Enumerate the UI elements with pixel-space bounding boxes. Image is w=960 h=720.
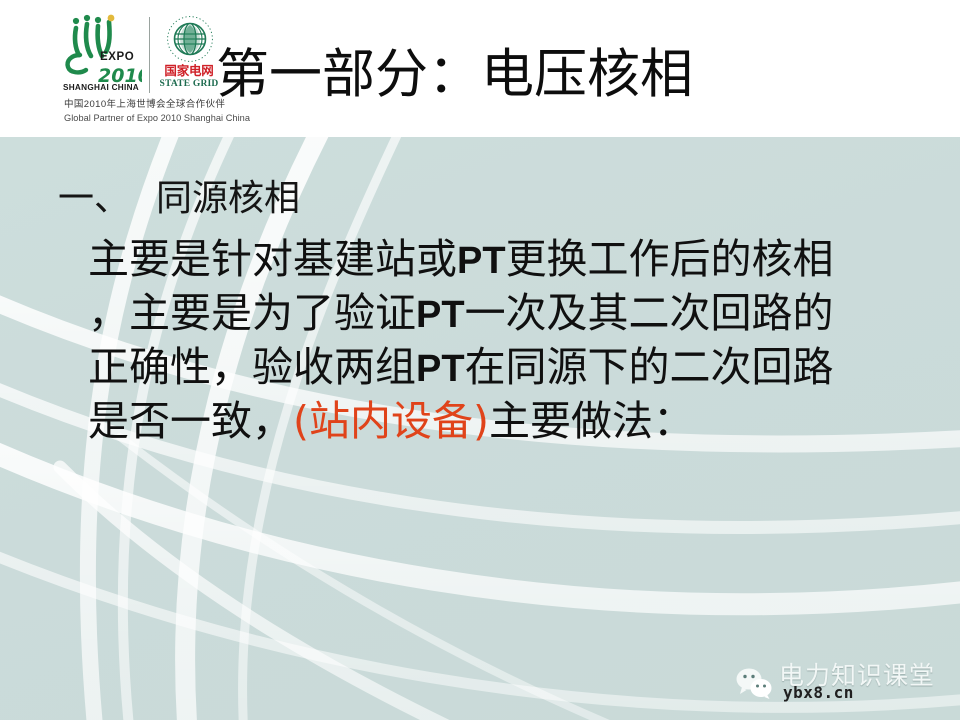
state-grid-cn-label: 国家电网 [158,65,220,78]
body-paragraph: 主要是针对基建站或PT更换工作后的核相 ，主要是为了验证PT一次及其二次回路的 … [88,233,938,447]
paragraph-line-3: 正确性，验收两组PT在同源下的二次回路 [88,341,938,395]
line4-seg2-emphasis: (站内设备) [293,397,489,445]
slide-body: 一、同源核相 主要是针对基建站或PT更换工作后的核相 ，主要是为了验证PT一次及… [0,137,960,720]
expo-city-label: SHANGHAI CHINA [60,84,142,92]
line4-seg3: 主要做法： [489,397,694,445]
line1-seg3: 更换工作后的核相 [506,235,834,283]
expo-wordmark: EXPO [100,52,134,64]
paragraph-line-1: 主要是针对基建站或PT更换工作后的核相 [88,233,938,287]
watermark-url: ybx8.cn [783,685,854,701]
wechat-icon [735,667,775,699]
section-heading-number: 一、 [58,178,130,219]
expo-gold-dot-icon [108,15,115,22]
expo-2010-logo: EXPO 2010 SHANGHAI CHINA [60,14,142,98]
paragraph-line-2: ，主要是为了验证PT一次及其二次回路的 [88,287,938,341]
state-grid-en-label: STATE GRID [158,80,220,90]
slide-content: 一、同源核相 主要是针对基建站或PT更换工作后的核相 ，主要是为了验证PT一次及… [0,137,960,720]
section-heading: 一、同源核相 [58,181,300,217]
logo-group: EXPO 2010 SHANGHAI CHINA [60,14,220,126]
presentation-slide: EXPO 2010 SHANGHAI CHINA [0,0,960,720]
line2-seg1: ，主要是为了验证 [88,289,416,337]
line3-seg3: 在同源下的二次回路 [465,343,834,391]
partner-line-en: Global Partner of Expo 2010 Shanghai Chi… [64,113,250,124]
slide-header-band: EXPO 2010 SHANGHAI CHINA [0,0,960,137]
state-grid-globe-icon [166,15,214,63]
watermark: 电力知识课堂 ybx8.cn [735,655,950,711]
partner-line-cn: 中国2010年上海世博会全球合作伙伴 [64,100,225,111]
line1-seg1: 主要是针对基建站或 [88,235,457,283]
logo-divider [149,17,150,93]
line3-seg2-pt: PT [416,348,465,390]
line1-seg2-pt: PT [457,240,506,282]
line3-seg1: 正确性，验收两组 [88,343,416,391]
line4-seg1: 是否一致， [88,397,293,445]
logo-row: EXPO 2010 SHANGHAI CHINA [60,14,220,100]
state-grid-logo: 国家电网 STATE GRID [158,15,220,99]
line2-seg2-pt: PT [416,294,465,336]
slide-title: 第一部分：电压核相 [216,46,693,104]
section-heading-text: 同源核相 [156,178,300,219]
line2-seg3: 一次及其二次回路的 [465,289,834,337]
paragraph-line-4: 是否一致，(站内设备)主要做法： [88,395,938,447]
